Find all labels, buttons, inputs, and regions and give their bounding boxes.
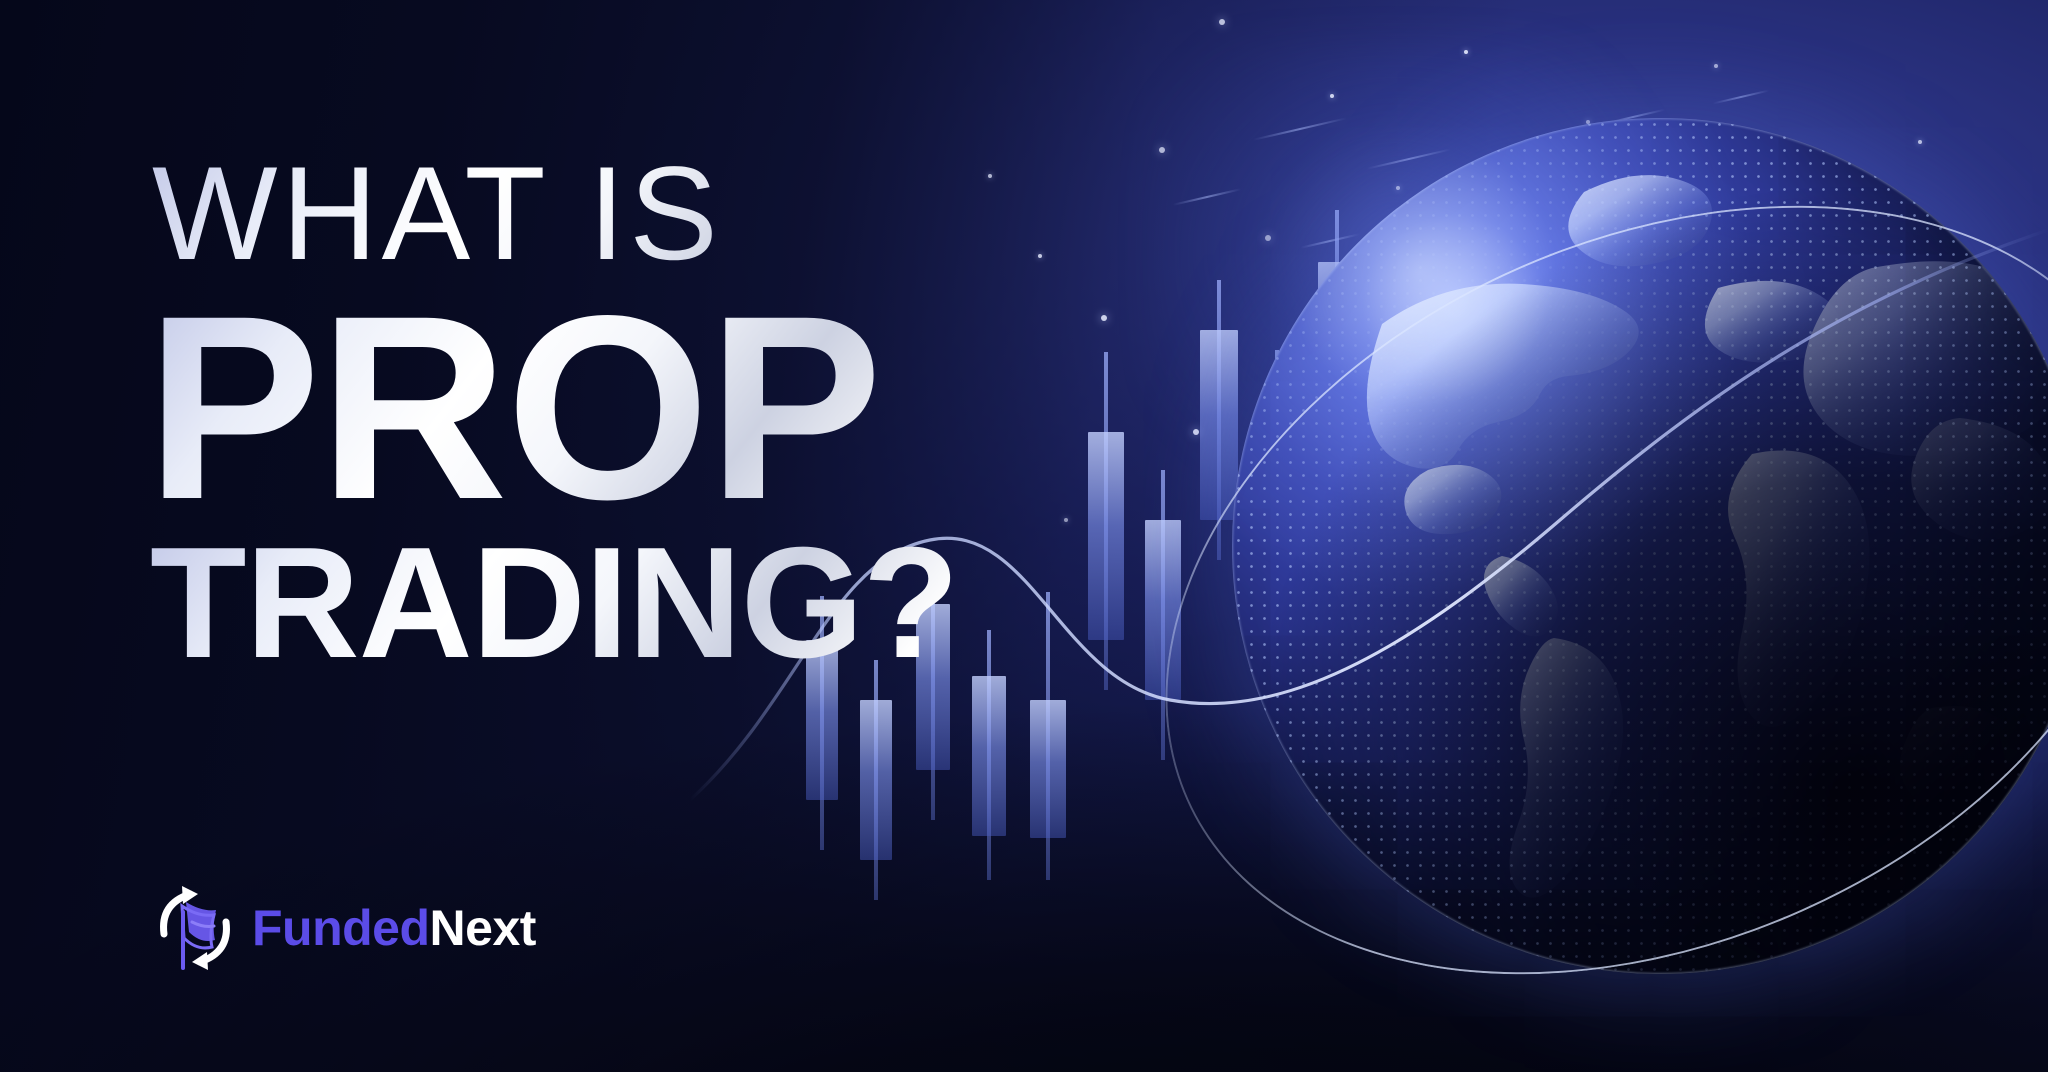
fundednext-wordmark: FundedNext: [252, 903, 536, 953]
candlestick: [860, 660, 892, 900]
candlestick-body: [1030, 700, 1066, 838]
hero-banner: WHAT IS PROP TRADING? FundedNext: [0, 0, 2048, 1072]
headline-line-2: PROP: [146, 295, 1052, 520]
digital-globe: [1232, 118, 2048, 974]
logo-word-next: Next: [430, 900, 536, 956]
headline-block: WHAT IS PROP TRADING?: [152, 148, 1052, 681]
logo-word-funded: Funded: [252, 900, 430, 956]
fundednext-arrows-candlestick-icon: [152, 882, 238, 974]
candlestick-body: [1088, 432, 1124, 640]
candlestick: [1088, 352, 1124, 690]
headline-line-3: TRADING?: [150, 526, 1052, 681]
candlestick-body: [860, 700, 892, 860]
fundednext-logo[interactable]: FundedNext: [152, 882, 536, 974]
candlestick-body: [972, 676, 1006, 836]
